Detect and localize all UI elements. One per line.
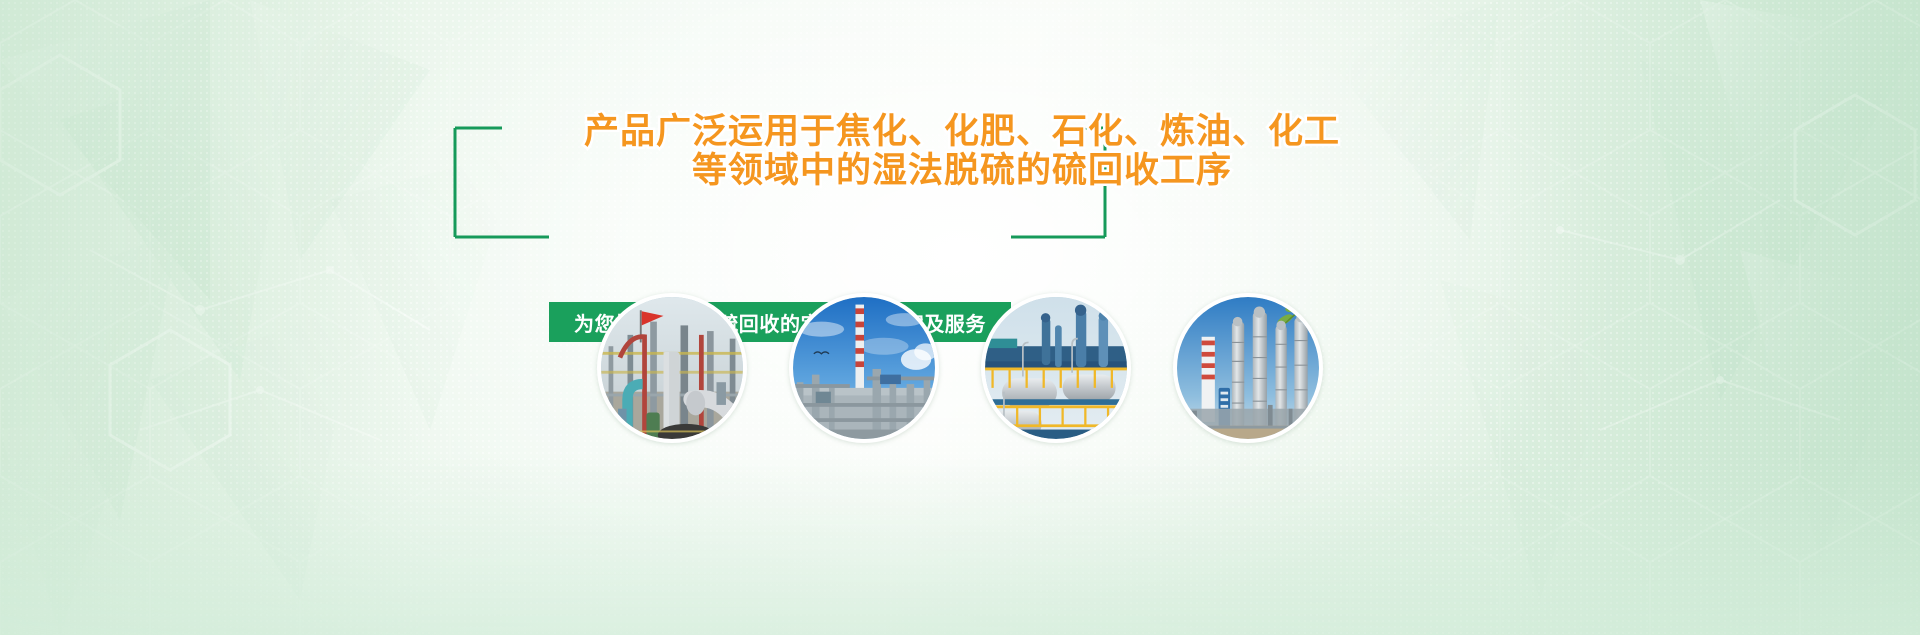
photo-circle-row (0, 293, 1920, 443)
headline-line-2: 等领域中的湿法脱硫的硫回收工序 (0, 151, 1920, 190)
headline-block: 产品广泛运用于焦化、化肥、石化、炼油、化工 等领域中的湿法脱硫的硫回收工序 为您… (0, 104, 1920, 254)
headline-line-1: 产品广泛运用于焦化、化肥、石化、炼油、化工 (0, 112, 1920, 151)
bottom-fade (0, 455, 1920, 635)
page-title: 产品广泛运用于焦化、化肥、石化、炼油、化工 等领域中的湿法脱硫的硫回收工序 (0, 112, 1920, 190)
photo-pressure-vessels (981, 293, 1131, 443)
hero-banner: 产品广泛运用于焦化、化肥、石化、炼油、化工 等领域中的湿法脱硫的硫回收工序 为您… (0, 0, 1920, 635)
photo-refinery-piping (597, 293, 747, 443)
photo-distillation-towers (1173, 293, 1323, 443)
photo-plant-chimney (789, 293, 939, 443)
